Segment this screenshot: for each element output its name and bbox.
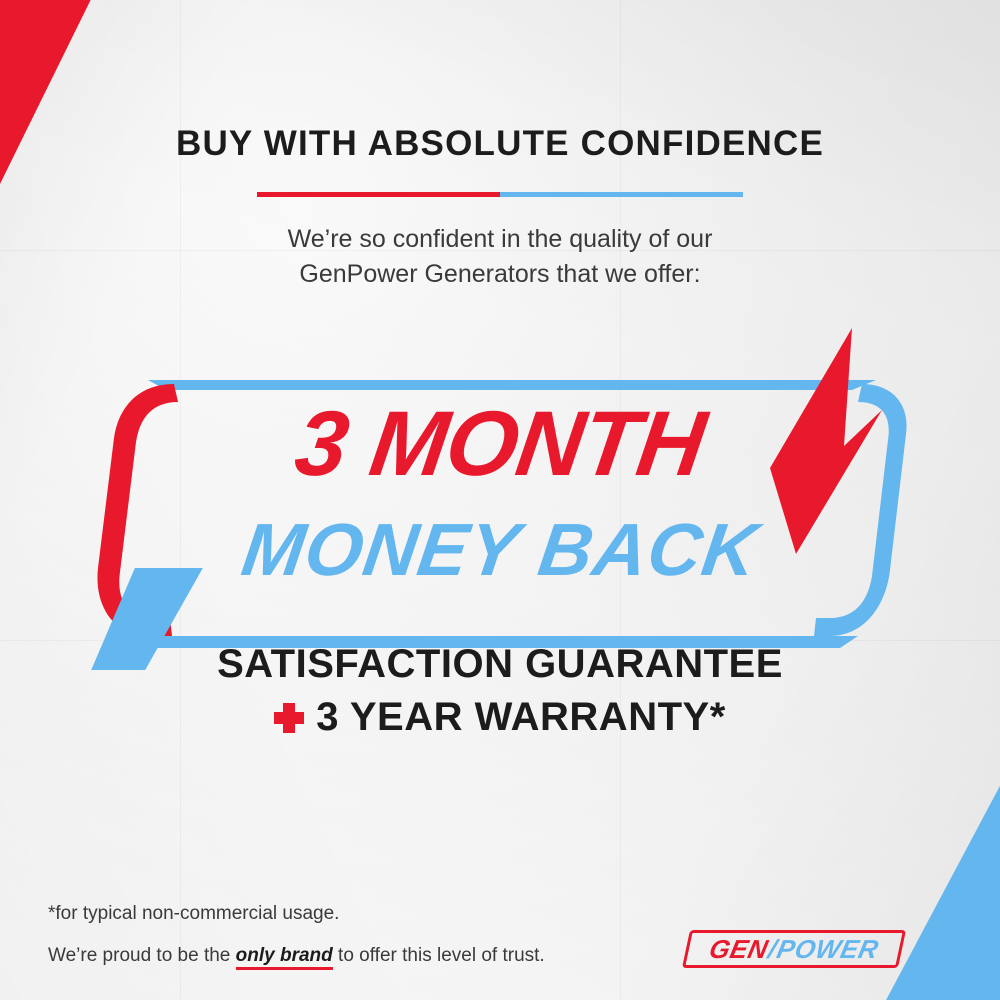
subheading-line-1: We’re so confident in the quality of our: [0, 222, 1000, 257]
warranty-text: 3 YEAR WARRANTY*: [316, 695, 726, 740]
logo-text-gen: GEN: [707, 934, 771, 965]
footnote-trust-after: to offer this level of trust.: [333, 945, 545, 966]
warranty-row: 3 YEAR WARRANTY*: [0, 695, 1000, 740]
page-title: BUY WITH ABSOLUTE CONFIDENCE: [0, 124, 1000, 164]
satisfaction-guarantee-text: SATISFACTION GUARANTEE: [0, 642, 1000, 687]
promo-poster: BUY WITH ABSOLUTE CONFIDENCE We’re so co…: [0, 0, 1000, 1000]
plus-icon: [274, 703, 304, 733]
genpower-logo: GEN / POWER: [686, 930, 902, 968]
footnote-trust-emphasis: only brand: [236, 945, 333, 970]
footnote-usage: *for typical non-commercial usage.: [48, 903, 339, 925]
subheading-line-2: GenPower Generators that we offer:: [0, 257, 1000, 292]
logo-text-power: POWER: [774, 934, 881, 965]
logo-wordmark: GEN / POWER: [682, 930, 906, 968]
divider-rule-blue: [500, 192, 743, 197]
footnote-trust: We’re proud to be the only brand to offe…: [48, 945, 545, 967]
divider-rule: [257, 192, 743, 197]
footnote-trust-before: We’re proud to be the: [48, 945, 236, 966]
subheading: We’re so confident in the quality of our…: [0, 222, 1000, 291]
divider-rule-red: [257, 192, 500, 197]
